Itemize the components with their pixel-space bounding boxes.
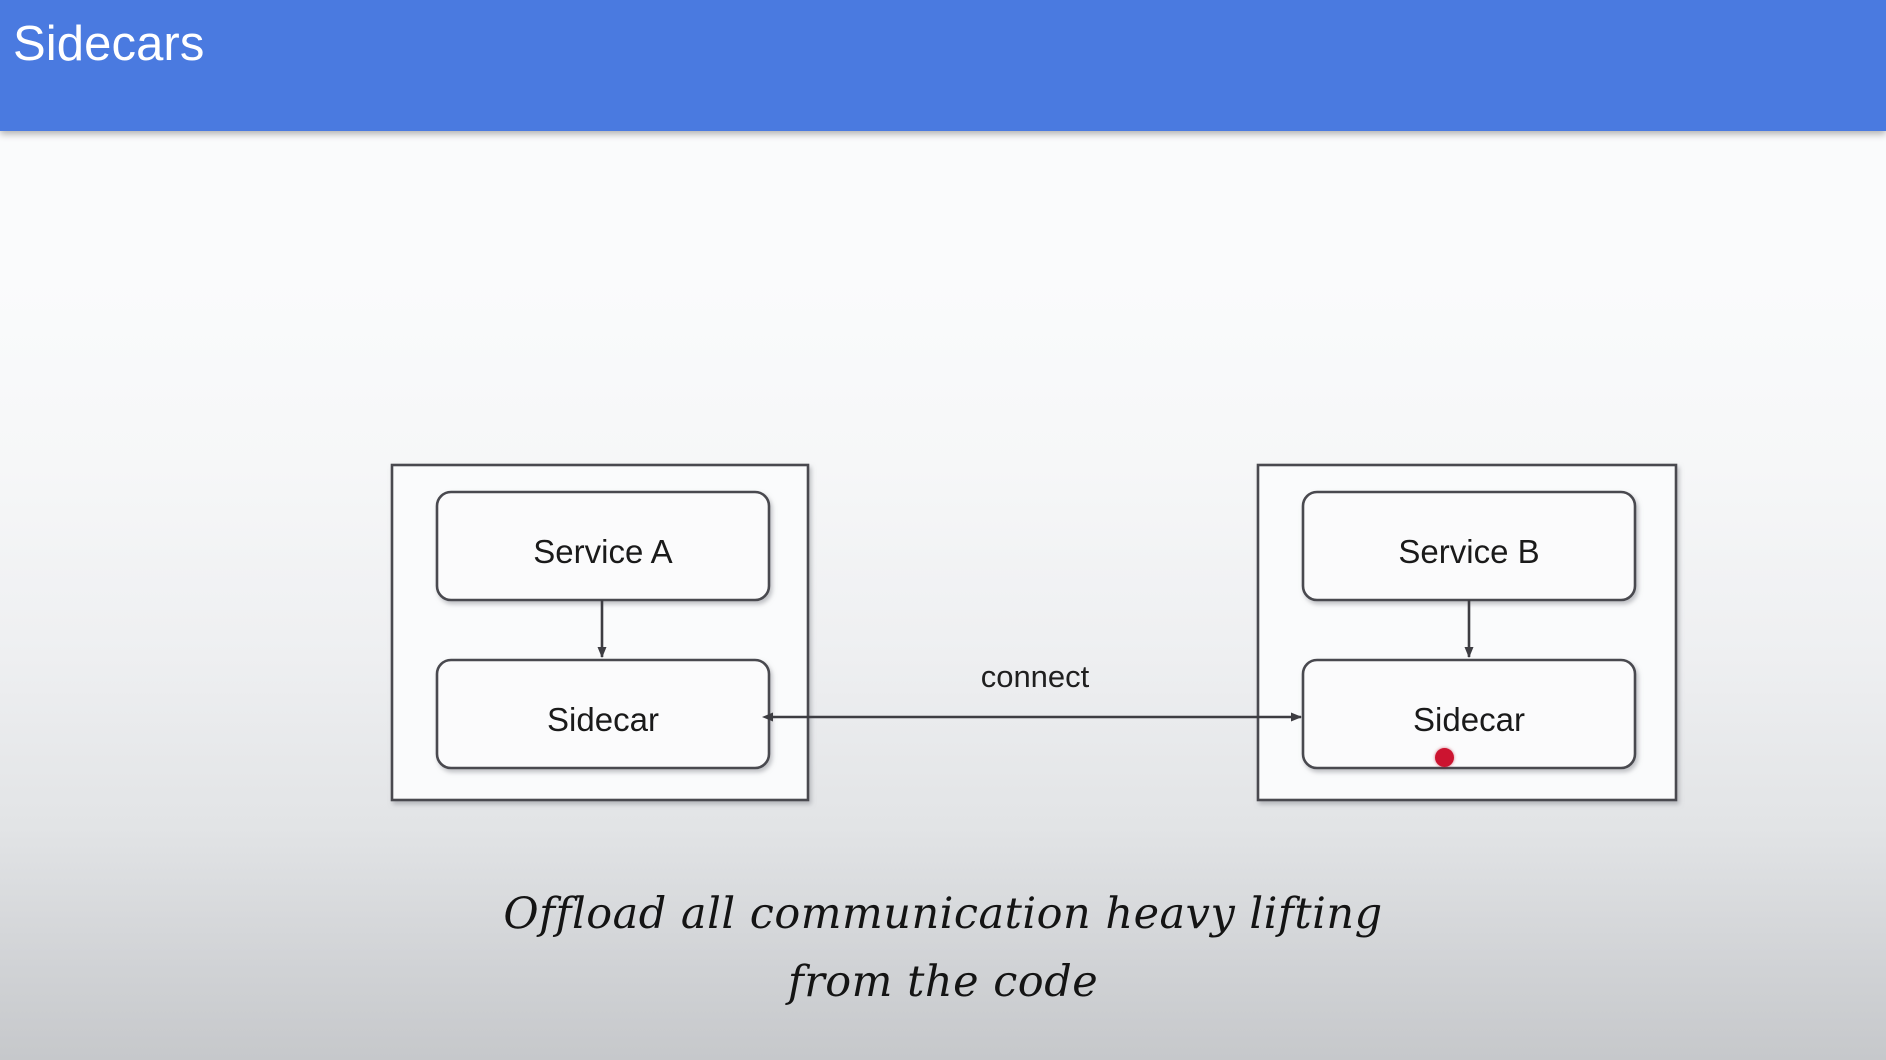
page-title: Sidecars	[13, 13, 204, 75]
service-b-node[interactable]	[1303, 492, 1635, 600]
slide-root: Sidecars	[0, 0, 1886, 1060]
connect-label: connect	[870, 661, 1200, 692]
caption-line-2: from the code	[0, 948, 1886, 1016]
sidecar-left-node[interactable]	[437, 660, 769, 768]
caption-block: Offload all communication heavy lifting …	[0, 880, 1886, 1016]
caption-line-1: Offload all communication heavy lifting	[0, 880, 1886, 948]
slide-header-bar: Sidecars	[0, 0, 1886, 131]
sidecar-right-node[interactable]	[1303, 660, 1635, 768]
service-a-node[interactable]	[437, 492, 769, 600]
cursor-pointer-dot	[1435, 748, 1454, 767]
